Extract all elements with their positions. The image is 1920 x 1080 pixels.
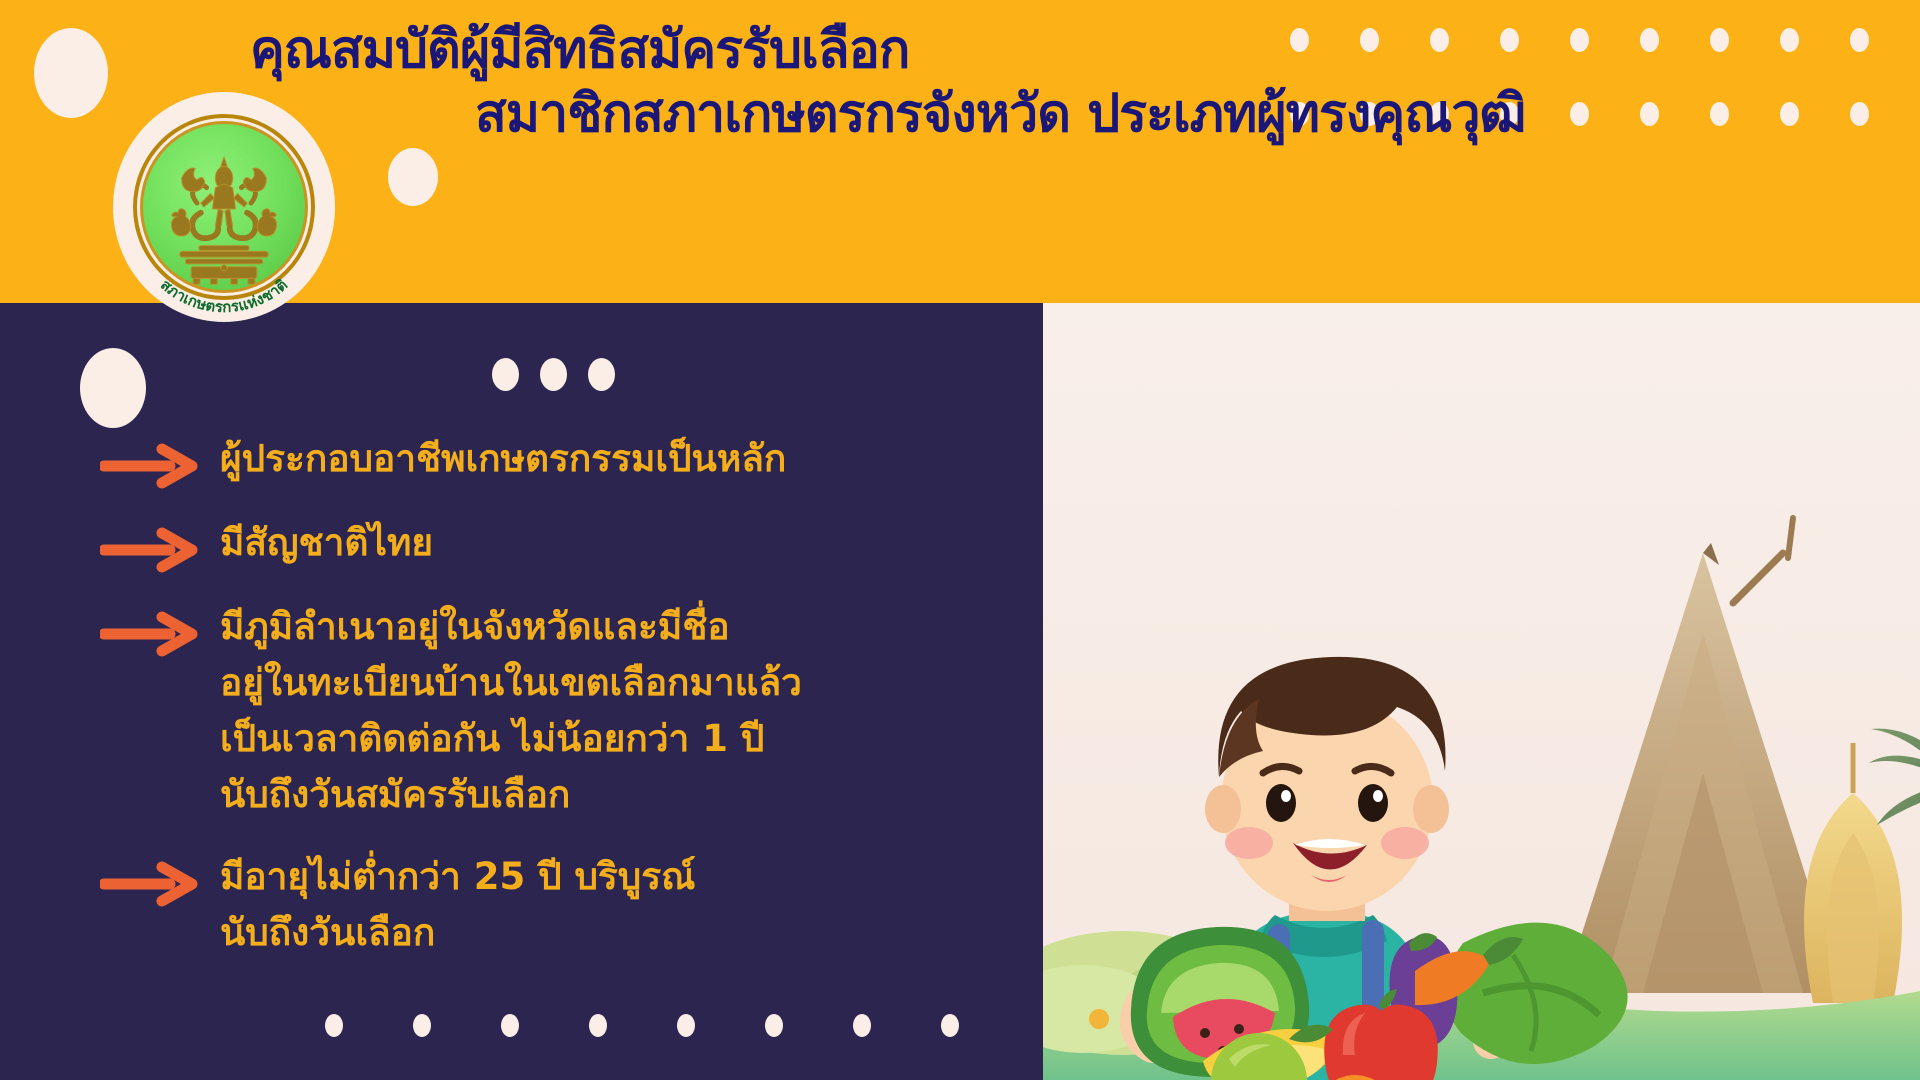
qualifications-panel: ผู้ประกอบอาชีพเกษตรกรรมเป็นหลักมีสัญชาติ… <box>0 303 1043 1080</box>
qualification-item: ผู้ประกอบอาชีพเกษตรกรรมเป็นหลัก <box>100 431 1000 489</box>
header-dot <box>1500 102 1519 126</box>
panel-dot <box>492 358 519 391</box>
panel-dot <box>540 358 567 391</box>
boy-cheek-left <box>1225 827 1273 859</box>
panel-dot <box>588 358 615 391</box>
farm-scene-illustration <box>1043 303 1920 1080</box>
decor-bottom-dots <box>325 1014 1025 1044</box>
arrow-right-icon <box>100 527 198 573</box>
boy-cheek-right <box>1381 827 1429 859</box>
header-dot <box>1570 102 1589 126</box>
qualifications-list: ผู้ประกอบอาชีพเกษตรกรรมเป็นหลักมีสัญชาติ… <box>100 431 1000 987</box>
bottom-dot <box>325 1014 343 1037</box>
header-dot <box>1850 102 1869 126</box>
header-dot <box>1290 102 1309 126</box>
header-dot <box>1360 28 1379 52</box>
boy-eye-right <box>1358 784 1388 822</box>
decor-circle-top-left <box>34 28 108 118</box>
header-dot-grid <box>1290 28 1920 278</box>
header-dot <box>1710 102 1729 126</box>
header-dot <box>1360 102 1379 126</box>
bottom-dot <box>413 1014 431 1037</box>
header-dot <box>1780 102 1799 126</box>
decor-three-dots <box>492 358 622 398</box>
emblem-ring-label: สภาเกษตรกรแห่งชาติ <box>157 276 291 317</box>
header-dot <box>1570 28 1589 52</box>
bottom-dot <box>501 1014 519 1037</box>
header-dot <box>1430 102 1449 126</box>
decor-circle-small <box>388 148 438 206</box>
header-dot <box>1850 28 1869 52</box>
header-dot <box>1430 28 1449 52</box>
decor-circle-panel <box>80 348 146 428</box>
header-dot <box>1640 102 1659 126</box>
header-dot <box>1290 28 1309 52</box>
bottom-dot <box>941 1014 959 1037</box>
poster-root: คุณสมบัติผู้มีสิทธิสมัครรับเลือก สมาชิกส… <box>0 0 1920 1080</box>
bottom-dot <box>677 1014 695 1037</box>
header-dot <box>1710 28 1729 52</box>
illustration-panel <box>1043 303 1920 1080</box>
header-dot <box>1780 28 1799 52</box>
header-dot <box>1640 28 1659 52</box>
arrow-right-icon <box>100 611 198 657</box>
arrow-right-icon <box>100 861 198 907</box>
qualification-item: มีสัญชาติไทย <box>100 515 1000 573</box>
qualification-item: มีอายุไม่ต่ำกว่า 25 ปี บริบูรณ์ นับถึงวั… <box>100 849 1000 961</box>
qualification-text: มีอายุไม่ต่ำกว่า 25 ปี บริบูรณ์ นับถึงวั… <box>220 849 696 961</box>
emblem-ring-text: สภาเกษตรกรแห่งชาติ <box>107 88 341 328</box>
qualification-text: มีสัญชาติไทย <box>220 515 433 571</box>
boy-eye-left <box>1266 784 1296 822</box>
qualification-text: ผู้ประกอบอาชีพเกษตรกรรมเป็นหลัก <box>220 431 786 487</box>
qualification-text: มีภูมิลำเนาอยู่ในจังหวัดและมีชื่อ อยู่ใน… <box>220 599 802 823</box>
arrow-right-icon <box>100 443 198 489</box>
bottom-dot <box>853 1014 871 1037</box>
bottom-dot <box>765 1014 783 1037</box>
council-emblem: สภาเกษตรกรแห่งชาติ <box>113 92 335 322</box>
bottom-dot <box>589 1014 607 1037</box>
header-dot <box>1500 28 1519 52</box>
qualification-item: มีภูมิลำเนาอยู่ในจังหวัดและมีชื่อ อยู่ใน… <box>100 599 1000 823</box>
